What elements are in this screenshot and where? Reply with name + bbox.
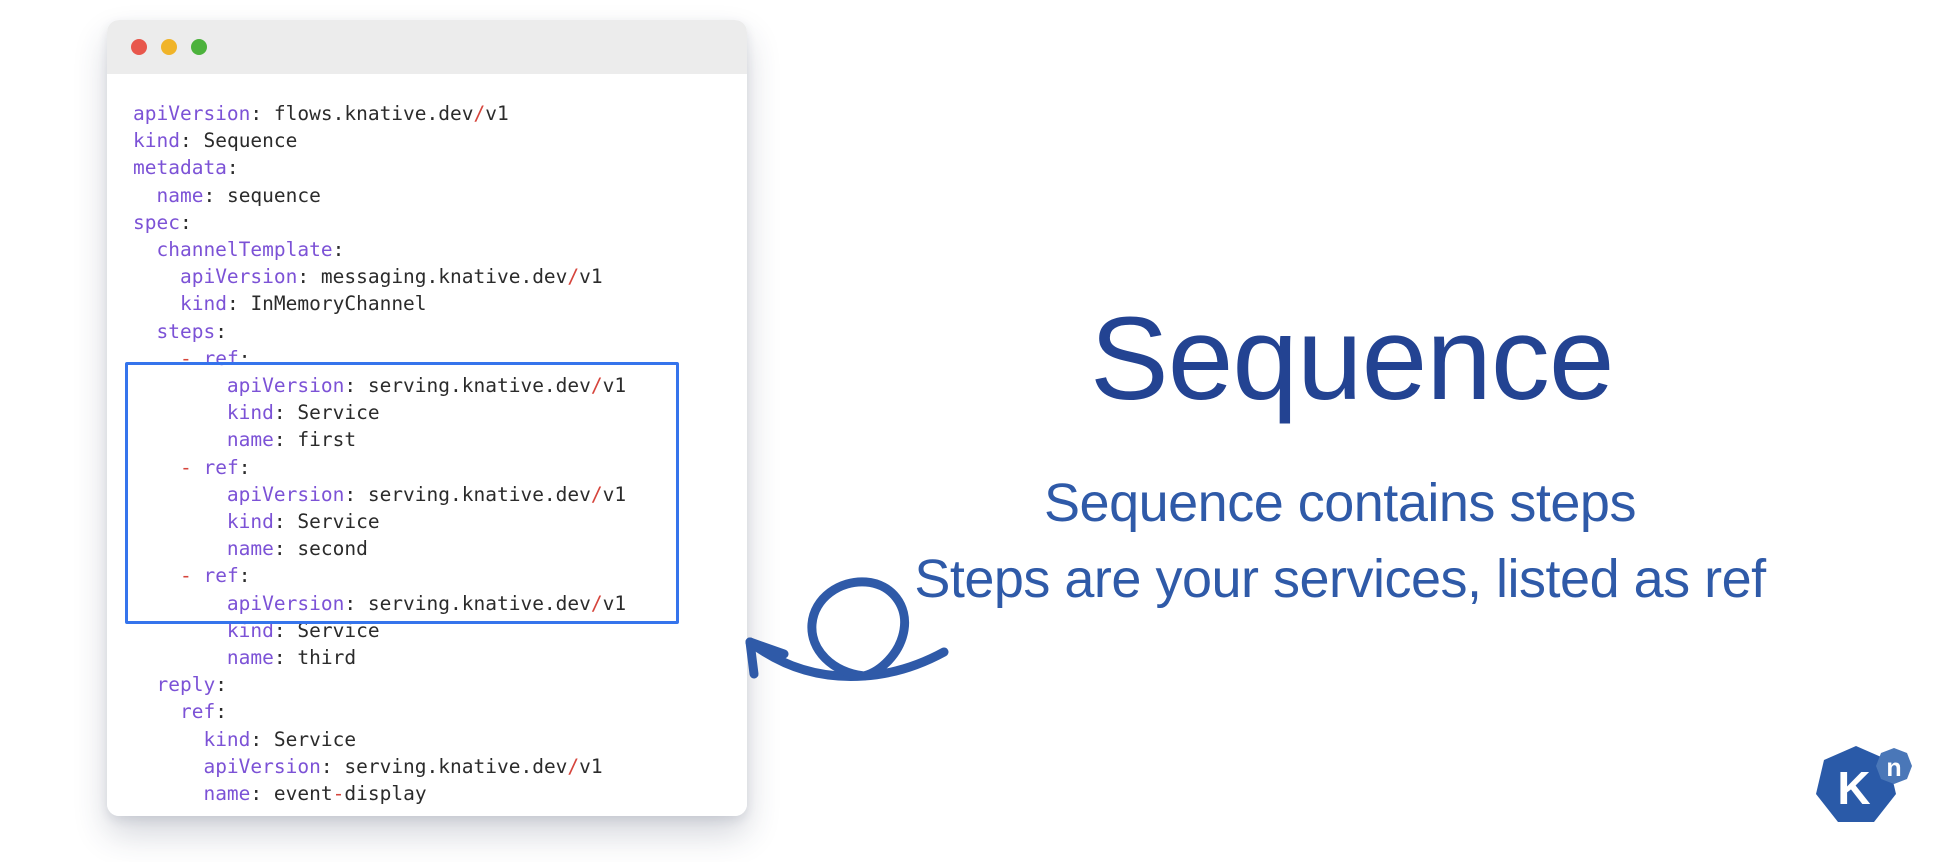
window-title-bar <box>107 20 747 74</box>
subtitle-line-1: Sequence contains steps <box>800 465 1880 541</box>
subtitle-line-2: Steps are your services, listed as ref <box>800 541 1880 617</box>
subtitle-block: Sequence contains steps Steps are your s… <box>800 465 1880 617</box>
code-window: apiVersion: flows.knative.dev/v1 kind: S… <box>107 20 747 816</box>
slide-canvas: apiVersion: flows.knative.dev/v1 kind: S… <box>0 0 1960 862</box>
close-window-button[interactable] <box>131 39 147 55</box>
knative-logo: K n <box>1812 742 1916 842</box>
yaml-code-block[interactable]: apiVersion: flows.knative.dev/v1 kind: S… <box>107 100 747 807</box>
knative-logo-k-letter: K <box>1837 762 1870 814</box>
knative-logo-n-letter: n <box>1886 754 1901 782</box>
zoom-window-button[interactable] <box>191 39 207 55</box>
traffic-light-buttons <box>131 39 207 55</box>
code-editor-body: apiVersion: flows.knative.dev/v1 kind: S… <box>107 74 747 816</box>
minimize-window-button[interactable] <box>161 39 177 55</box>
page-title: Sequence <box>1090 300 1590 418</box>
curved-hand-drawn-arrow <box>672 568 952 688</box>
